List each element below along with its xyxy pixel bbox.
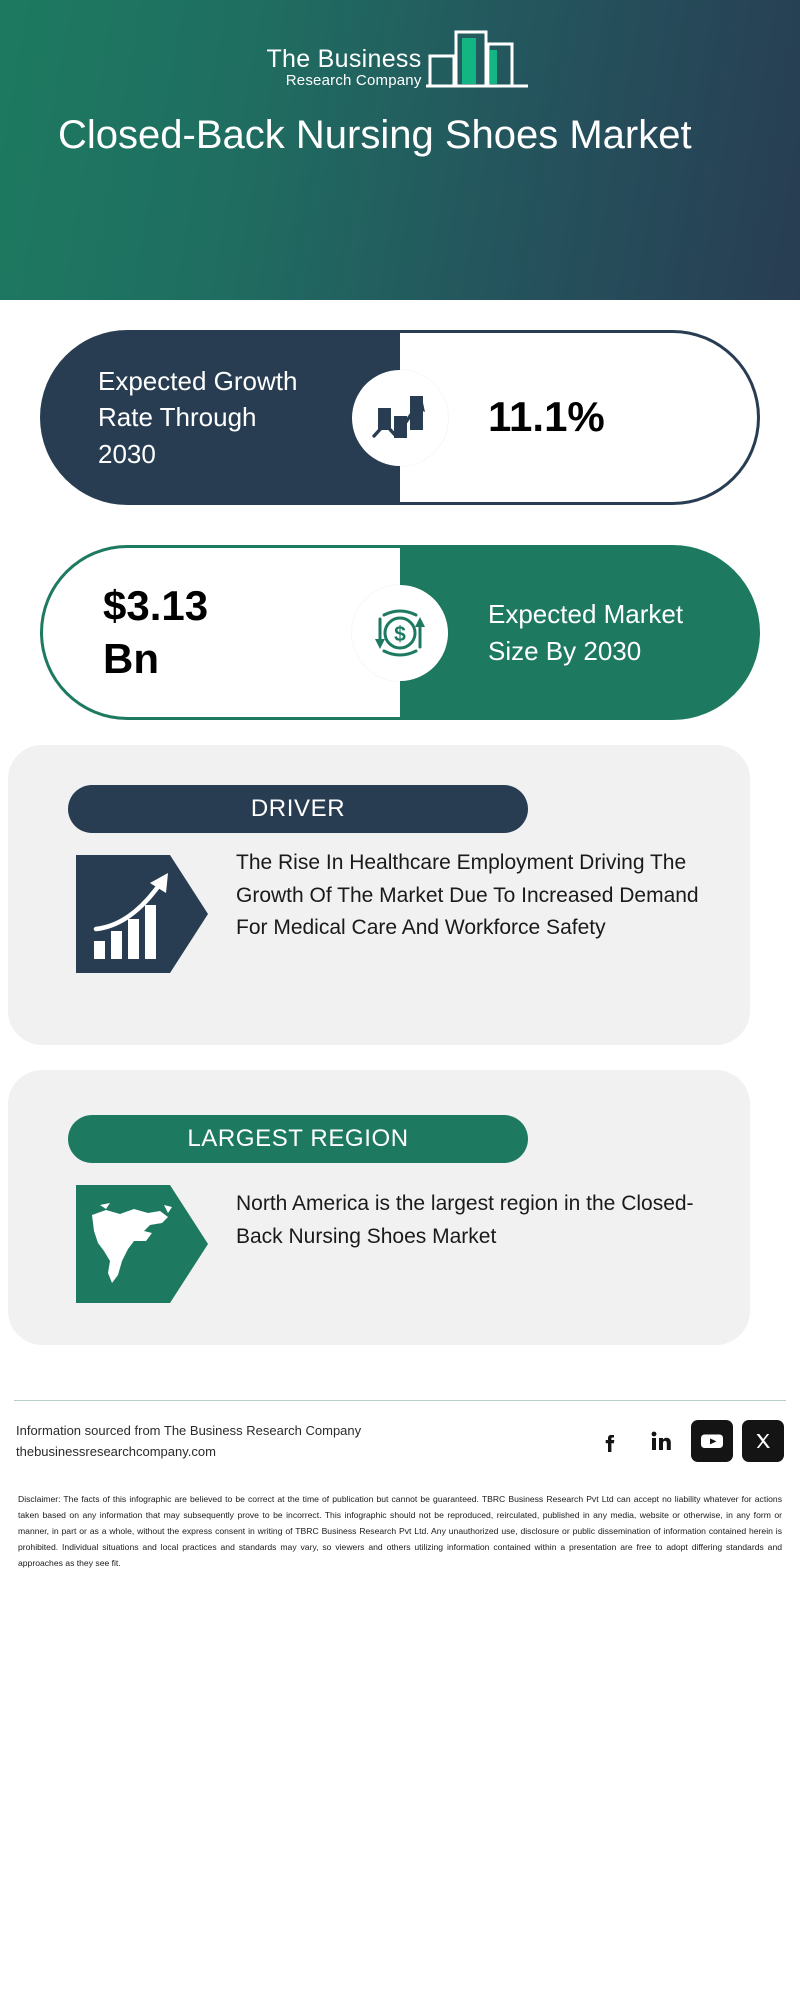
market-size-label-panel: Expected Market Size By 2030	[400, 545, 760, 720]
source-text: Information sourced from The Business Re…	[16, 1420, 361, 1463]
stat-card-growth-rate: Expected Growth Rate Through 2030 11.1%	[40, 330, 760, 505]
growth-chart-arrow-icon	[352, 370, 448, 466]
facebook-icon[interactable]	[589, 1420, 631, 1462]
largest-region-text: North America is the largest region in t…	[236, 1188, 726, 1253]
company-logo: The Business Research Company	[0, 18, 800, 93]
dollar-cycle-icon: $	[352, 585, 448, 681]
logo-line-1: The Business	[266, 46, 421, 72]
infographic-page: The Business Research Company Closed-Bac…	[0, 0, 800, 2000]
market-size-value-line-1: $3.13	[103, 580, 208, 633]
social-links	[589, 1420, 784, 1462]
growth-rate-value: 11.1%	[400, 333, 757, 502]
source-line-1: Information sourced from The Business Re…	[16, 1420, 361, 1441]
market-size-value-line-2: Bn	[103, 633, 159, 686]
growth-rate-label: Expected Growth Rate Through 2030	[40, 330, 400, 505]
bar-chart-logo-mark	[424, 16, 534, 93]
market-size-value-panel: $3.13 Bn	[40, 545, 400, 720]
market-size-label: Expected Market Size By 2030	[400, 545, 760, 720]
growth-bar-chart-arrow-icon	[76, 855, 208, 973]
source-line-2[interactable]: thebusinessresearchcompany.com	[16, 1441, 361, 1462]
disclaimer-text: Disclaimer: The facts of this infographi…	[18, 1492, 782, 1571]
driver-panel: DRIVER The Rise In Healthcare Employment…	[8, 745, 750, 1045]
driver-pill: DRIVER	[68, 785, 528, 833]
largest-region-panel: LARGEST REGION North America is the larg…	[8, 1070, 750, 1345]
header-banner: The Business Research Company Closed-Bac…	[0, 0, 800, 300]
linkedin-icon[interactable]	[640, 1420, 682, 1462]
north-america-map-icon	[76, 1185, 208, 1303]
youtube-icon[interactable]	[691, 1420, 733, 1462]
footer-divider	[14, 1400, 786, 1401]
growth-value-panel: 11.1%	[400, 330, 760, 505]
growth-label-panel: Expected Growth Rate Through 2030	[40, 330, 400, 505]
page-title: Closed-Back Nursing Shoes Market	[40, 112, 760, 158]
stat-card-market-size: $3.13 Bn Expected Market Size By 2030 $	[40, 545, 760, 720]
x-twitter-icon[interactable]	[742, 1420, 784, 1462]
largest-region-pill: LARGEST REGION	[68, 1115, 528, 1163]
logo-line-2: Research Company	[286, 72, 422, 90]
logo-text: The Business Research Company	[266, 46, 421, 93]
svg-text:$: $	[394, 623, 406, 646]
market-size-value: $3.13 Bn	[43, 548, 400, 717]
driver-text: The Rise In Healthcare Employment Drivin…	[236, 847, 726, 945]
